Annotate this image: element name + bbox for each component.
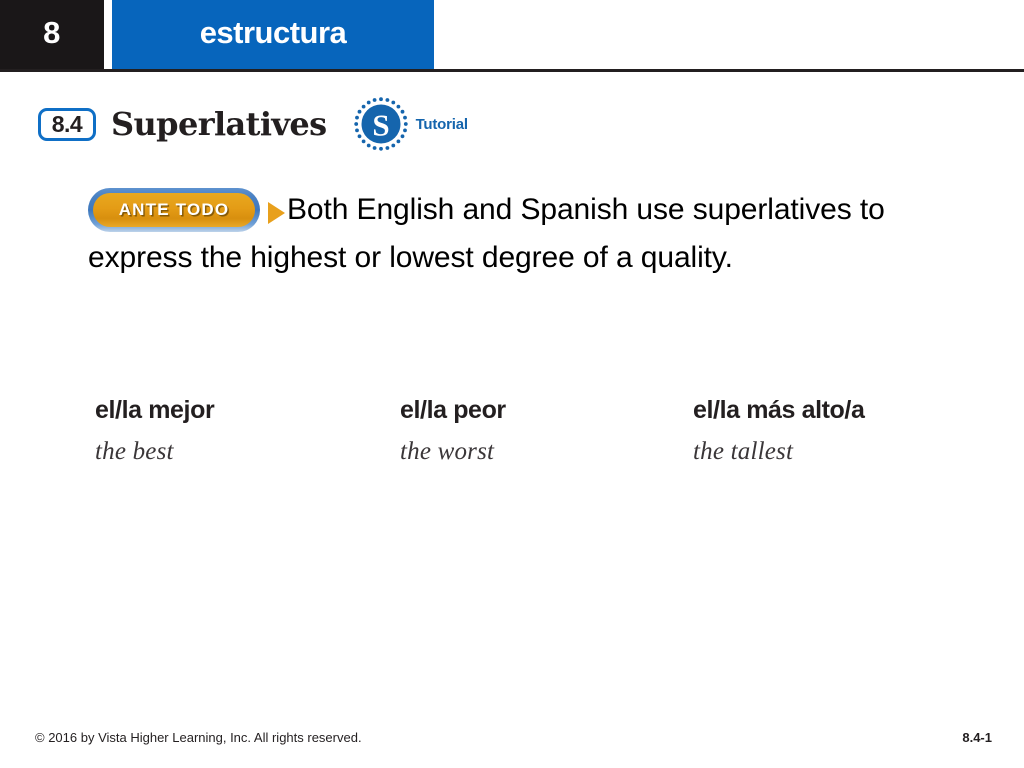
- triangle-right-icon: [268, 202, 285, 224]
- page-number: 8.4-1: [962, 730, 992, 745]
- ante-todo-intro-block: ANTE TODO Both English and Spanish use s…: [88, 186, 968, 282]
- chapter-number: 8: [0, 0, 104, 69]
- superlative-examples-list: el/la mejor the best el/la peor the wors…: [95, 396, 995, 466]
- tutorial-s-circle-icon[interactable]: S: [353, 96, 409, 152]
- example-term: el/la mejor: [95, 396, 400, 425]
- tutorial-button[interactable]: S Tutorial: [353, 95, 468, 153]
- section-title-row: 8.4 Superlatives: [38, 100, 468, 148]
- ante-todo-label: ANTE TODO: [119, 200, 230, 220]
- copyright-notice: © 2016 by Vista Higher Learning, Inc. Al…: [35, 730, 362, 745]
- page-title: Superlatives: [111, 105, 327, 143]
- page-header: 8 estructura: [0, 0, 1024, 69]
- example-term: el/la peor: [400, 396, 693, 425]
- svg-text:S: S: [372, 108, 389, 143]
- example-gloss: the worst: [400, 438, 693, 466]
- tutorial-label[interactable]: Tutorial: [416, 116, 468, 133]
- example-gloss: the tallest: [693, 438, 993, 466]
- example-gloss: the best: [95, 438, 400, 466]
- ante-todo-badge: ANTE TODO: [88, 188, 260, 232]
- example-item: el/la peor the worst: [400, 396, 693, 466]
- example-term: el/la más alto/a: [693, 396, 993, 425]
- header-divider-rule: [0, 69, 1024, 72]
- example-item: el/la más alto/a the tallest: [693, 396, 993, 466]
- example-item: el/la mejor the best: [95, 396, 400, 466]
- section-name: estructura: [112, 0, 434, 69]
- ante-todo-badge-inner: ANTE TODO: [93, 193, 255, 227]
- section-number-badge: 8.4: [38, 108, 96, 141]
